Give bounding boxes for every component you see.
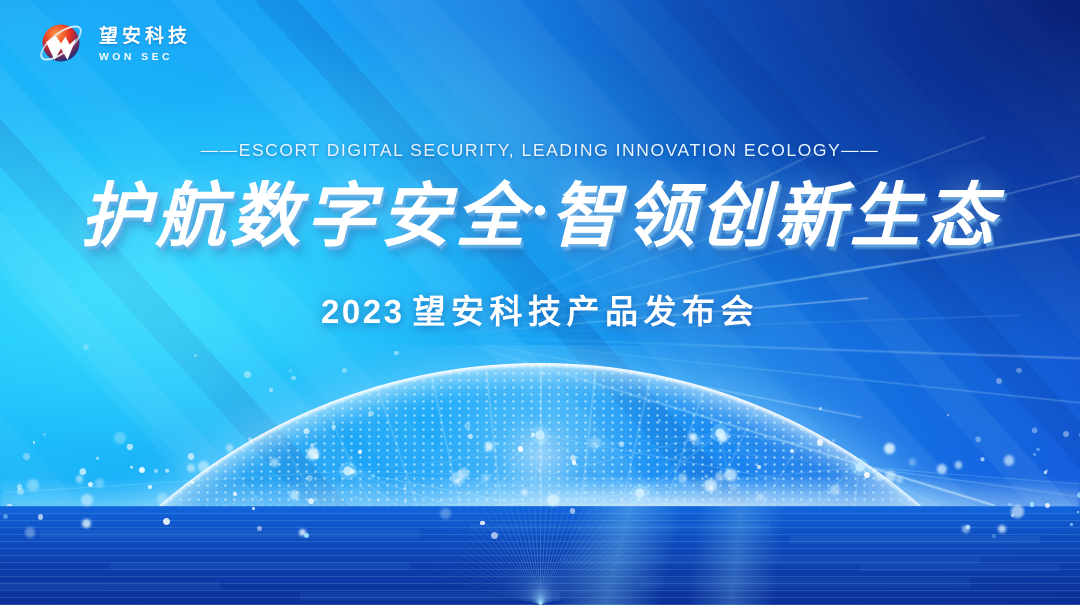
poster-canvas: 望安科技 WON SEC ——ESCORT DIGITAL SECURITY, … [0, 0, 1080, 605]
brand-logo-text: 望安科技 WON SEC [99, 25, 191, 63]
headline-part-1: 护航数字安全 [80, 174, 530, 257]
subtitle-text: 望安科技产品发布会 [412, 293, 759, 330]
headline-separator: · [530, 178, 550, 244]
subtitle: 2023望安科技产品发布会 [0, 285, 1080, 333]
headline-part-2: 智领创新生态 [550, 174, 1000, 257]
page-title: 护航数字安全·智领创新生态 [0, 177, 1080, 255]
brand-name-cn: 望安科技 [99, 27, 191, 46]
perspective-grid-floor [0, 506, 1080, 605]
tagline: ——ESCORT DIGITAL SECURITY, LEADING INNOV… [0, 140, 1080, 161]
subtitle-year: 2023 [321, 293, 412, 330]
wonsec-globe-w-logo-icon [36, 18, 88, 70]
poster-content: ——ESCORT DIGITAL SECURITY, LEADING INNOV… [0, 140, 1080, 333]
brand-logo[interactable]: 望安科技 WON SEC [36, 18, 191, 70]
floor-light-streak [0, 506, 1080, 605]
brand-name-en: WON SEC [99, 52, 191, 63]
